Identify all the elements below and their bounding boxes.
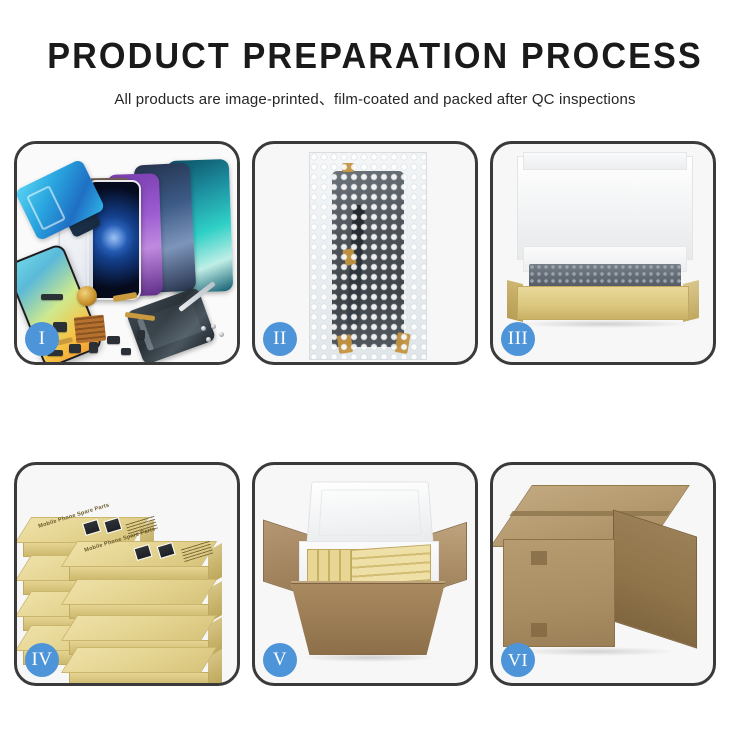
drop-shadow [303,653,435,662]
step-badge-2: II [263,322,297,356]
component-chip-icon [41,294,63,300]
carton-front-icon [503,539,615,647]
step-badge-1: I [25,322,59,356]
bubble-wrap-bag-icon [309,152,427,360]
header: PRODUCT PREPARATION PROCESS All products… [0,0,750,109]
circuit-board-icon [74,315,107,344]
kraft-boxes-inside-icon [351,544,431,586]
step-badge-4: IV [25,643,59,677]
box-label-thumb [157,542,176,559]
component-chip-icon [69,344,81,353]
step-panel-2: II [252,141,478,365]
box-lid-icon [517,156,693,260]
stacked-box [69,579,209,619]
page-title: PRODUCT PREPARATION PROCESS [19,38,732,74]
component-chip-icon [121,348,131,355]
drop-shadow [515,647,675,656]
box-label-thumb [133,544,152,561]
stacked-box: Mobile Phone Spare Parts [69,541,209,581]
box-label-thumb [103,517,122,534]
stacked-box [69,647,209,683]
carton-tape-icon [531,551,547,565]
component-chip-icon [89,342,98,353]
carton-body-icon [291,583,445,655]
drop-shadow [519,320,689,328]
bubble-texture-icon [310,153,426,359]
foam-lid-icon [306,482,433,546]
step-panel-4: Mobile Phone Spare Parts [14,462,240,686]
speaker-module-icon [77,286,97,306]
box-label-thumb [82,519,101,536]
step-badge-3: III [501,322,535,356]
step-badge-5: V [263,643,297,677]
step-panel-3: III [490,141,716,365]
screws-icon [201,324,227,346]
component-chip-icon [137,330,145,339]
product-preparation-infographic: PRODUCT PREPARATION PROCESS All products… [0,0,750,750]
carton-tape-icon [531,623,547,637]
carton-seam-icon [509,511,670,516]
component-chip-icon [107,336,120,344]
page-subtitle: All products are image-printed、film-coat… [0,88,750,109]
step-panel-5: V [252,462,478,686]
carton-side-icon [613,509,697,648]
step-badge-6: VI [501,643,535,677]
step-panel-1: I [14,141,240,365]
step-panel-6: VI [490,462,716,686]
kraft-box-front-icon [517,286,689,320]
process-step-grid: I II [14,141,736,686]
box-lid-edge-icon [523,152,687,170]
